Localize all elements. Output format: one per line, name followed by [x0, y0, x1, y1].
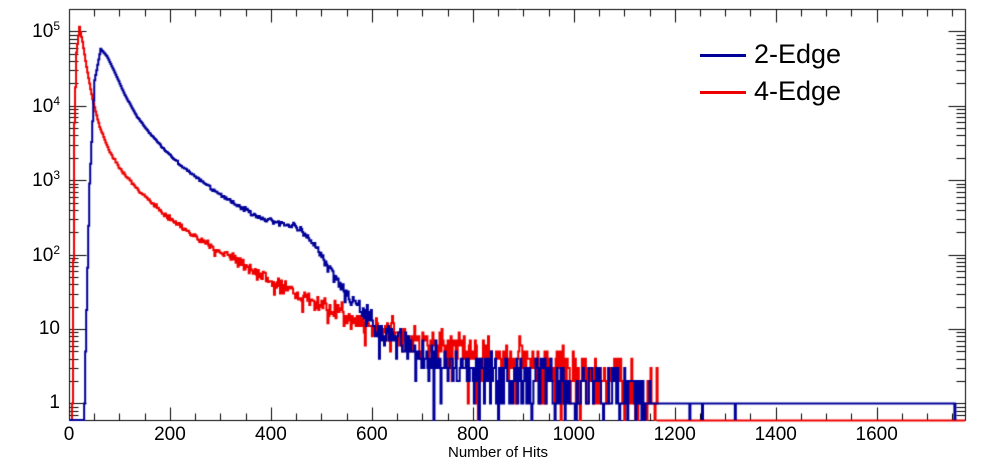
histogram-plot: Number of Hits 0200400600800100012001400…: [0, 0, 996, 472]
y-tick-10^3: 103: [32, 168, 60, 192]
x-tick-1200: 1200: [654, 424, 696, 446]
legend: 2-Edge 4-Edge: [700, 36, 920, 110]
legend-entry-2-edge: 2-Edge: [700, 36, 920, 73]
legend-swatch-4-edge: [700, 91, 746, 94]
y-tick-10^4: 104: [32, 94, 60, 118]
x-tick-600: 600: [356, 424, 388, 446]
x-tick-1400: 1400: [755, 424, 797, 446]
y-tick-10^2: 102: [32, 242, 60, 266]
x-tick-200: 200: [154, 424, 186, 446]
y-tick-10: 10: [39, 318, 60, 340]
y-tick-10^5: 105: [32, 19, 60, 43]
x-tick-1600: 1600: [856, 424, 898, 446]
x-tick-1000: 1000: [553, 424, 595, 446]
x-tick-400: 400: [255, 424, 287, 446]
y-tick-1: 1: [49, 392, 60, 414]
legend-entry-4-edge: 4-Edge: [700, 73, 920, 110]
x-axis-title: Number of Hits: [0, 444, 996, 461]
legend-label-4-edge: 4-Edge: [754, 73, 841, 110]
x-tick-0: 0: [64, 424, 75, 446]
legend-label-2-edge: 2-Edge: [754, 36, 841, 73]
x-tick-800: 800: [457, 424, 489, 446]
legend-swatch-2-edge: [700, 54, 746, 57]
